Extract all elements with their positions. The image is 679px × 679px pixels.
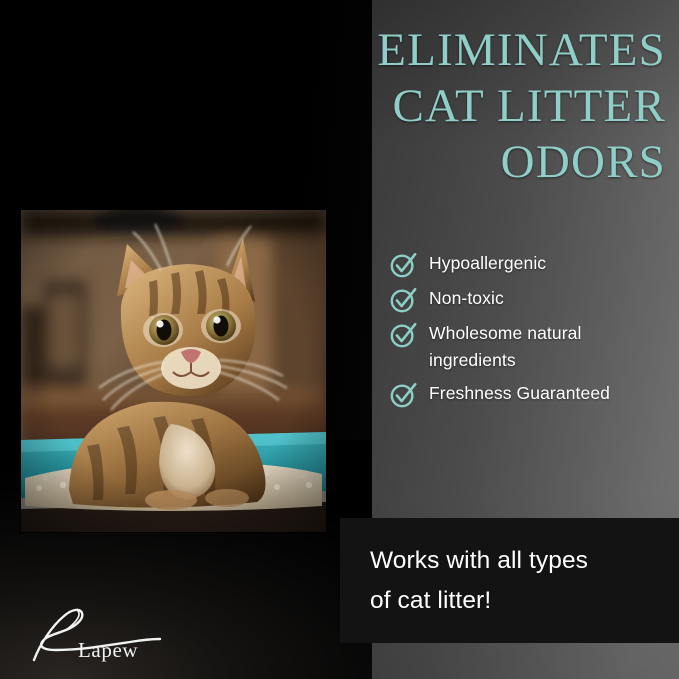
callout-line-2: of cat litter! bbox=[370, 581, 588, 621]
feature-item: Freshness Guaranteed bbox=[389, 380, 671, 409]
kitten-litter-box-photo bbox=[21, 210, 326, 532]
callout-text: Works with all types of cat litter! bbox=[340, 541, 588, 621]
callout-box: Works with all types of cat litter! bbox=[340, 518, 679, 643]
feature-item: Hypoallergenic bbox=[389, 250, 671, 279]
feature-list: Hypoallergenic Non-toxic Wholesome natur… bbox=[389, 250, 671, 415]
brand-logo: Lapew bbox=[26, 600, 176, 666]
feature-item: Wholesome natural ingredients bbox=[389, 320, 671, 374]
feature-label: Non-toxic bbox=[429, 285, 504, 312]
check-circle-icon bbox=[389, 321, 417, 349]
headline-line-1: ELIMINATES bbox=[300, 22, 666, 78]
check-circle-icon bbox=[389, 381, 417, 409]
feature-label: Hypoallergenic bbox=[429, 250, 546, 277]
logo-wordmark: Lapew bbox=[78, 638, 138, 663]
headline-line-3: ODORS bbox=[300, 134, 666, 190]
headline-line-2: CAT LITTER bbox=[300, 78, 666, 134]
headline: ELIMINATES CAT LITTER ODORS bbox=[300, 22, 666, 190]
kitten-photo-illustration bbox=[21, 210, 326, 532]
callout-line-1: Works with all types bbox=[370, 541, 588, 581]
advertisement-canvas: ELIMINATES CAT LITTER ODORS bbox=[0, 0, 679, 679]
check-circle-icon bbox=[389, 251, 417, 279]
feature-label: Wholesome natural ingredients bbox=[429, 320, 671, 374]
check-circle-icon bbox=[389, 286, 417, 314]
feature-item: Non-toxic bbox=[389, 285, 671, 314]
feature-label: Freshness Guaranteed bbox=[429, 380, 610, 407]
